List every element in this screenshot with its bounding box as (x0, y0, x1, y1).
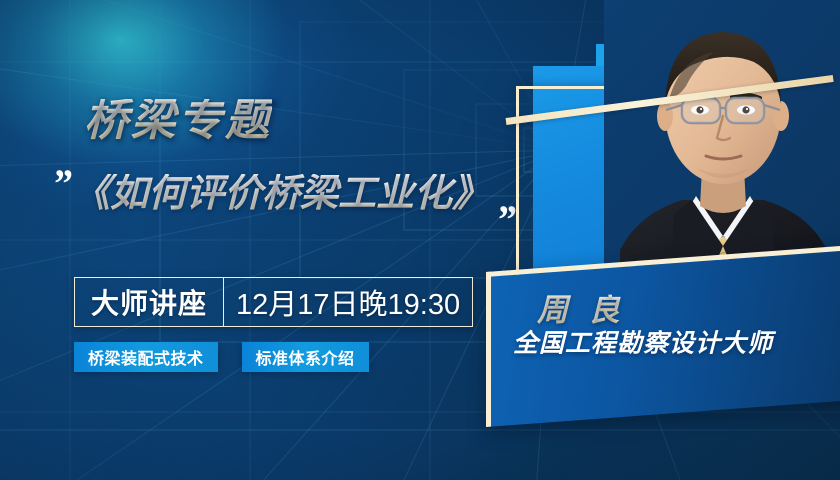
lecture-label-cell: 大师讲座 (75, 278, 224, 326)
page-title: 桥梁专题 (84, 99, 272, 143)
quote-open-icon: ” (52, 164, 69, 204)
lecture-label: 大师讲座 (91, 282, 207, 322)
page-subtitle: 《如何评价桥梁工业化》 (72, 174, 490, 216)
speaker-stage: 周 良 全国工程勘察设计大师 (486, 0, 840, 480)
topic-tag-list: 桥梁装配式技术 标准体系介绍 (74, 342, 369, 372)
topic-tag[interactable]: 桥梁装配式技术 (74, 342, 218, 372)
lecture-date-cell: 12月17日晚19:30 (224, 278, 472, 326)
lecture-info-box: 大师讲座 12月17日晚19:30 (74, 277, 473, 327)
speaker-name: 周 良 (537, 295, 840, 326)
topic-tag[interactable]: 标准体系介绍 (242, 342, 369, 372)
promo-poster: 桥梁专题 桥梁专题 ” 《如何评价桥梁工业化》 ” 大师讲座 12月17日晚19… (0, 0, 840, 480)
speaker-name-plate: 周 良 全国工程勘察设计大师 (486, 245, 840, 427)
lecture-datetime: 12月17日晚19:30 (236, 281, 460, 323)
speaker-title: 全国工程勘察设计大师 (513, 331, 840, 359)
subtitle-row: ” 《如何评价桥梁工业化》 ” (48, 168, 518, 244)
